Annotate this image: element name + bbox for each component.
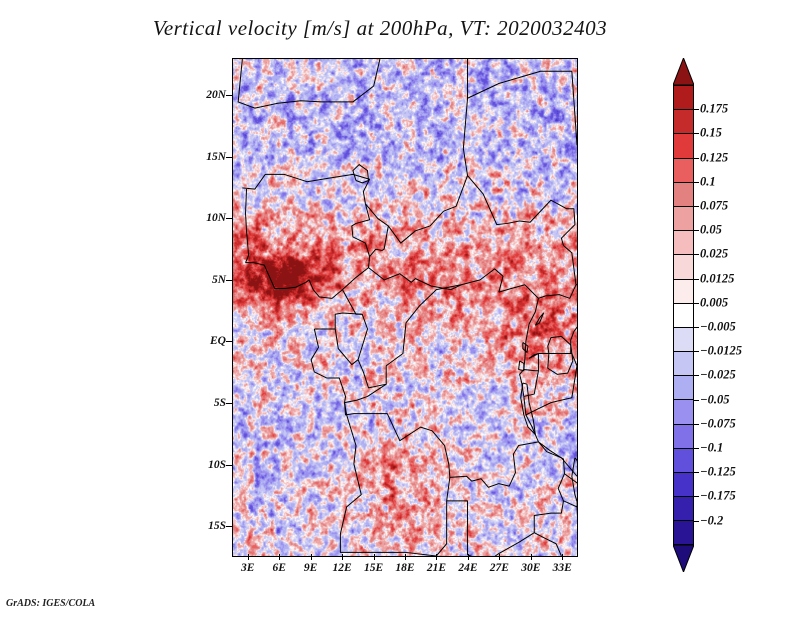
colorbar-tick-label: −0.05 bbox=[700, 392, 729, 407]
y-axis-tick-mark bbox=[226, 341, 232, 342]
country-border-line bbox=[468, 71, 572, 98]
colorbar-band bbox=[673, 279, 694, 303]
x-axis-tick-mark bbox=[279, 554, 280, 560]
country-border-line bbox=[238, 59, 380, 108]
colorbar-band bbox=[673, 448, 694, 472]
country-border-line bbox=[534, 533, 561, 556]
country-border-line bbox=[538, 442, 577, 476]
colorbar-band bbox=[673, 496, 694, 520]
colorbar-band bbox=[673, 109, 694, 133]
colorbar-tick-label: −0.0125 bbox=[700, 344, 742, 359]
colorbar-tick-label: −0.1 bbox=[700, 441, 723, 456]
country-border-line bbox=[342, 290, 386, 388]
colorbar-tick-label: 0.025 bbox=[700, 247, 728, 262]
country-border-line bbox=[306, 204, 370, 299]
country-border-line bbox=[246, 189, 249, 263]
colorbar-band bbox=[673, 399, 694, 423]
x-axis-tick-label: 30E bbox=[521, 562, 540, 574]
colorbar-band bbox=[673, 351, 694, 375]
colorbar-band bbox=[673, 206, 694, 230]
colorbar-tick-mark bbox=[694, 521, 699, 522]
colorbar-tick-label: −0.2 bbox=[700, 513, 723, 528]
colorbar-tick-label: −0.125 bbox=[700, 465, 736, 480]
colorbar-tick-mark bbox=[694, 158, 699, 159]
country-border-line bbox=[335, 329, 358, 365]
colorbar-tick-mark bbox=[694, 133, 699, 134]
country-border-line bbox=[548, 336, 573, 374]
x-axis-tick-mark bbox=[311, 554, 312, 560]
page-title: Vertical velocity [m/s] at 200hPa, VT: 2… bbox=[0, 16, 760, 41]
colorbar-tick-mark bbox=[694, 375, 699, 376]
country-border-line bbox=[369, 268, 504, 293]
y-axis-tick-label: EQ bbox=[210, 335, 226, 347]
colorbar-tick-mark bbox=[694, 400, 699, 401]
attribution-footer: GrADS: IGES/COLA bbox=[6, 598, 95, 609]
colorbar-tick-mark bbox=[694, 109, 699, 110]
x-axis-tick-label: 15E bbox=[364, 562, 383, 574]
colorbar-band bbox=[673, 520, 694, 544]
x-axis-tick-mark bbox=[374, 554, 375, 560]
x-axis-tick-label: 21E bbox=[427, 562, 446, 574]
country-border-line bbox=[563, 501, 577, 526]
x-axis-tick-mark bbox=[248, 554, 249, 560]
x-axis-tick-label: 27E bbox=[490, 562, 509, 574]
colorbar-tick-label: 0.175 bbox=[700, 102, 728, 117]
country-border-line bbox=[370, 226, 389, 257]
country-border-line bbox=[535, 313, 543, 325]
colorbar: 0.1750.150.1250.10.0750.050.0250.01250.0… bbox=[670, 58, 790, 563]
country-border-line bbox=[340, 403, 449, 556]
y-axis-tick-label: 10N bbox=[206, 212, 226, 224]
colorbar-tick-label: −0.005 bbox=[700, 320, 736, 335]
colorbar-tick-label: 0.05 bbox=[700, 223, 722, 238]
y-axis-tick-label: 10S bbox=[208, 459, 226, 471]
y-axis-tick-mark bbox=[226, 157, 232, 158]
y-axis-tick-mark bbox=[226, 403, 232, 404]
x-axis-tick-label: 12E bbox=[332, 562, 351, 574]
colorbar-tick-mark bbox=[694, 182, 699, 183]
colorbar-max-arrow bbox=[673, 58, 694, 85]
country-border-line bbox=[311, 329, 345, 403]
colorbar-tick-mark bbox=[694, 206, 699, 207]
colorbar-band bbox=[673, 424, 694, 448]
colorbar-band bbox=[673, 230, 694, 254]
y-axis-tick-label: 15N bbox=[206, 151, 226, 163]
y-axis-tick-label: 5S bbox=[214, 397, 226, 409]
y-axis: 20N15N10N5NEQ5S10S15S bbox=[180, 58, 226, 557]
colorbar-min-arrow bbox=[673, 545, 694, 572]
x-axis-tick-label: 33E bbox=[553, 562, 572, 574]
country-border-line bbox=[365, 59, 467, 243]
colorbar-band bbox=[673, 327, 694, 351]
y-axis-tick-mark bbox=[226, 526, 232, 527]
colorbar-tick-label: 0.1 bbox=[700, 174, 716, 189]
colorbar-tick-mark bbox=[694, 254, 699, 255]
colorbar-band bbox=[673, 254, 694, 278]
country-border-line bbox=[572, 71, 577, 206]
colorbar-band bbox=[673, 133, 694, 157]
y-axis-tick-label: 15S bbox=[208, 520, 226, 532]
colorbar-tick-label: 0.125 bbox=[700, 150, 728, 165]
country-border-line bbox=[519, 361, 524, 371]
colorbar-tick-mark bbox=[694, 327, 699, 328]
x-axis-tick-mark bbox=[468, 554, 469, 560]
x-axis-tick-mark bbox=[436, 554, 437, 560]
x-axis-tick-label: 24E bbox=[458, 562, 477, 574]
country-border-line bbox=[314, 313, 362, 329]
x-axis-tick-mark bbox=[405, 554, 406, 560]
colorbar-tick-mark bbox=[694, 279, 699, 280]
y-axis-tick-mark bbox=[226, 95, 232, 96]
colorbar-tick-mark bbox=[694, 351, 699, 352]
x-axis-tick-label: 18E bbox=[395, 562, 414, 574]
colorbar-tick-label: 0.005 bbox=[700, 295, 728, 310]
colorbar-band bbox=[673, 182, 694, 206]
colorbar-tick-mark bbox=[694, 496, 699, 497]
colorbar-tick-label: −0.025 bbox=[700, 368, 736, 383]
colorbar-tick-mark bbox=[694, 448, 699, 449]
y-axis-tick-label: 5N bbox=[212, 274, 226, 286]
x-axis-tick-mark bbox=[499, 554, 500, 560]
colorbar-tick-label: −0.175 bbox=[700, 489, 736, 504]
x-axis-tick-label: 9E bbox=[304, 562, 317, 574]
colorbar-tick-label: 0.0125 bbox=[700, 271, 734, 286]
map-plot-panel bbox=[232, 58, 578, 557]
country-borders-overlay bbox=[233, 59, 577, 556]
country-border-line bbox=[524, 354, 539, 371]
x-axis: 3E6E9E12E15E18E21E24E27E30E33E bbox=[232, 560, 578, 580]
colorbar-band bbox=[673, 303, 694, 327]
country-border-line bbox=[353, 165, 369, 183]
x-axis-tick-mark bbox=[342, 554, 343, 560]
y-axis-tick-mark bbox=[226, 218, 232, 219]
colorbar-tick-mark bbox=[694, 424, 699, 425]
country-border-line bbox=[345, 285, 539, 487]
x-axis-tick-mark bbox=[562, 554, 563, 560]
colorbar-tick-mark bbox=[694, 472, 699, 473]
country-border-line bbox=[242, 174, 369, 203]
country-border-line bbox=[468, 176, 576, 285]
colorbar-bands bbox=[673, 85, 694, 545]
colorbar-band bbox=[673, 375, 694, 399]
x-axis-tick-mark bbox=[531, 554, 532, 560]
country-border-line bbox=[526, 285, 577, 415]
colorbar-tick-label: −0.075 bbox=[700, 416, 736, 431]
colorbar-band bbox=[673, 158, 694, 182]
colorbar-band bbox=[673, 472, 694, 496]
colorbar-band bbox=[673, 85, 694, 109]
colorbar-tick-label: 0.15 bbox=[700, 126, 722, 141]
y-axis-tick-mark bbox=[226, 280, 232, 281]
y-axis-tick-mark bbox=[226, 465, 232, 466]
y-axis-tick-label: 20N bbox=[206, 89, 226, 101]
colorbar-tick-mark bbox=[694, 303, 699, 304]
x-axis-tick-label: 6E bbox=[272, 562, 285, 574]
colorbar-tick-mark bbox=[694, 230, 699, 231]
colorbar-tick-label: 0.075 bbox=[700, 199, 728, 214]
country-border-line bbox=[246, 263, 306, 289]
x-axis-tick-label: 3E bbox=[241, 562, 254, 574]
